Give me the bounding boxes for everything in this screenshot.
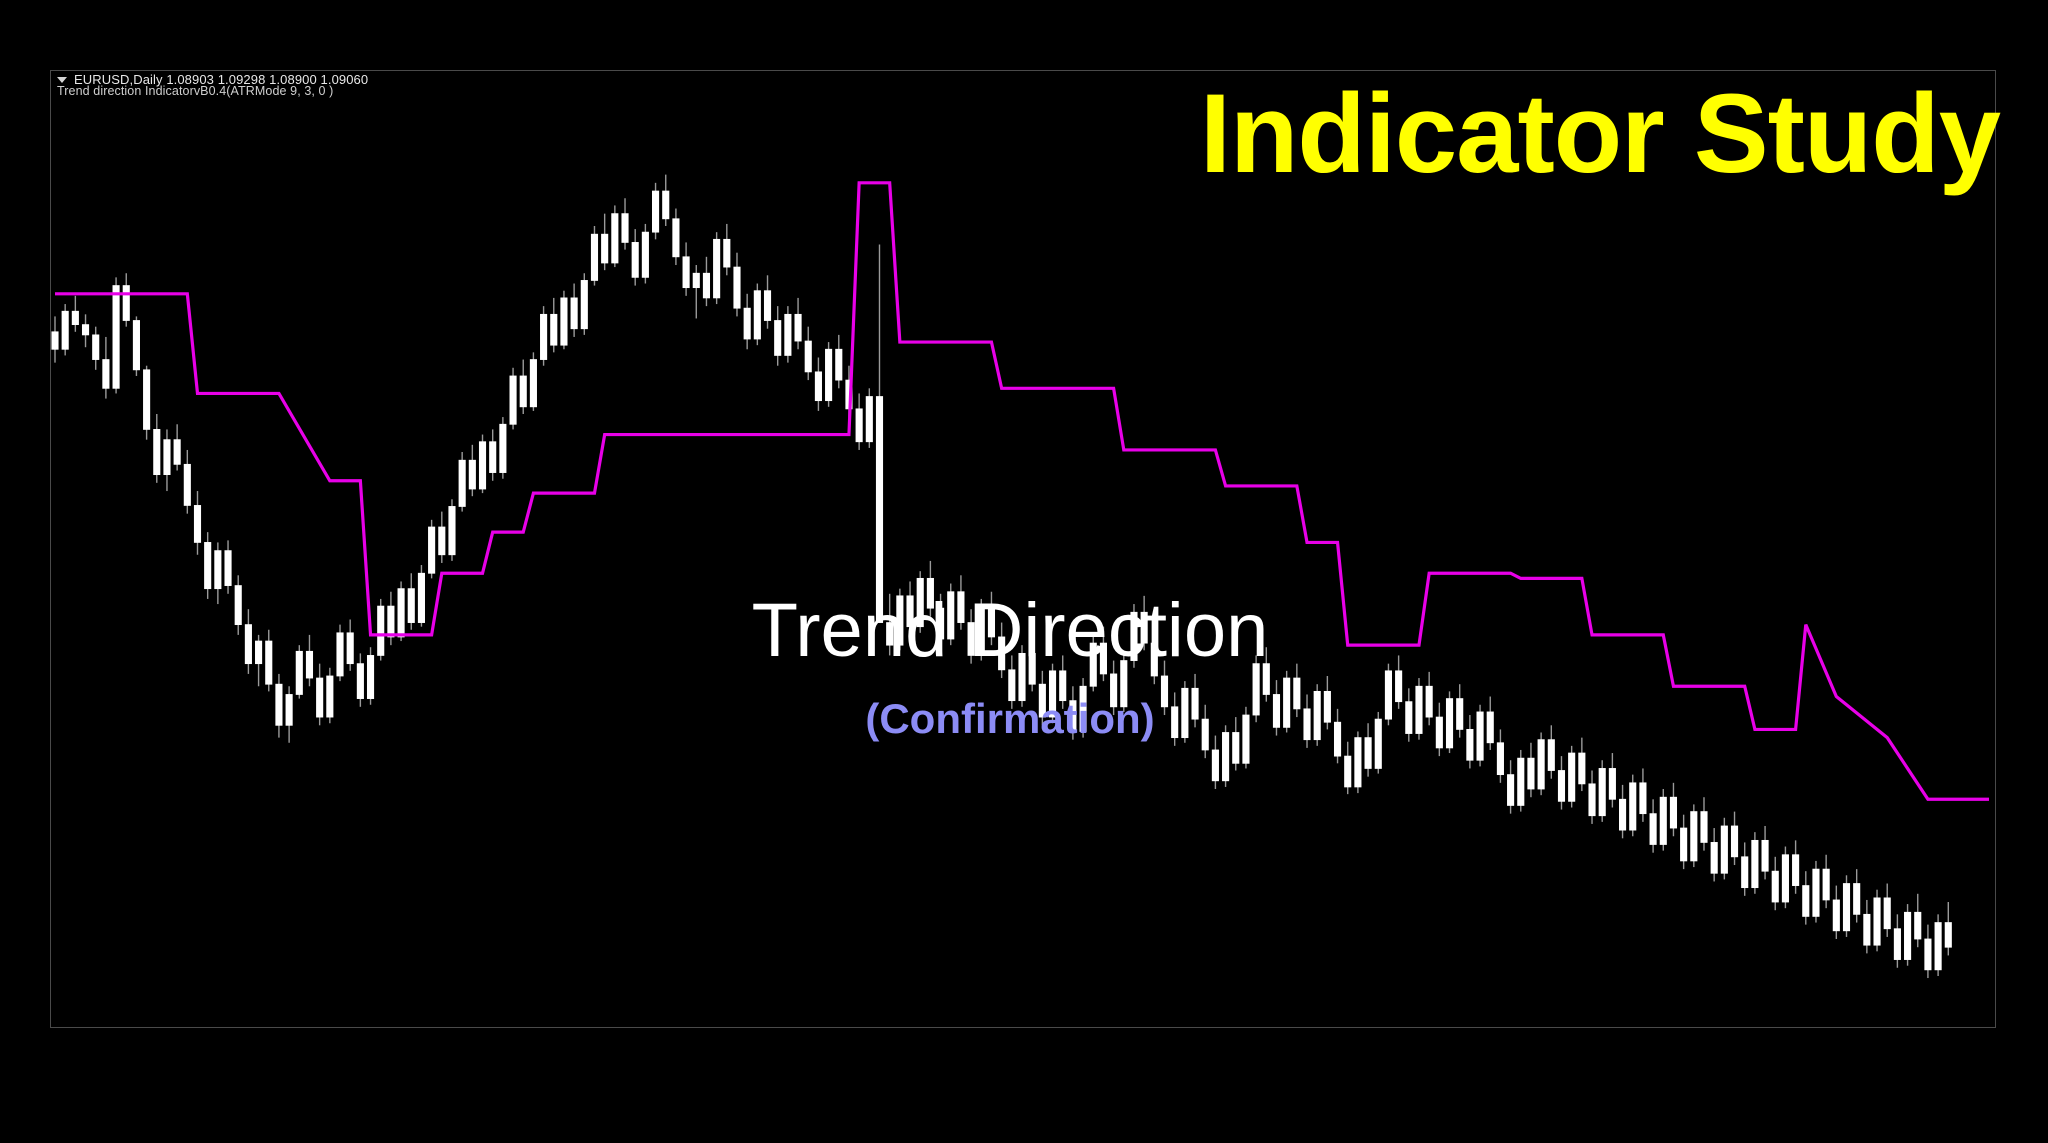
chart-window[interactable]: EURUSD,Daily 1.08903 1.09298 1.08900 1.0… [50,70,1996,1028]
page-title: Indicator Study [1200,78,2000,190]
screenshot-canvas: EURUSD,Daily 1.08903 1.09298 1.08900 1.0… [0,0,2048,1143]
price-chart-canvas[interactable] [51,71,1995,1027]
chart-plot-background [51,71,1995,1027]
